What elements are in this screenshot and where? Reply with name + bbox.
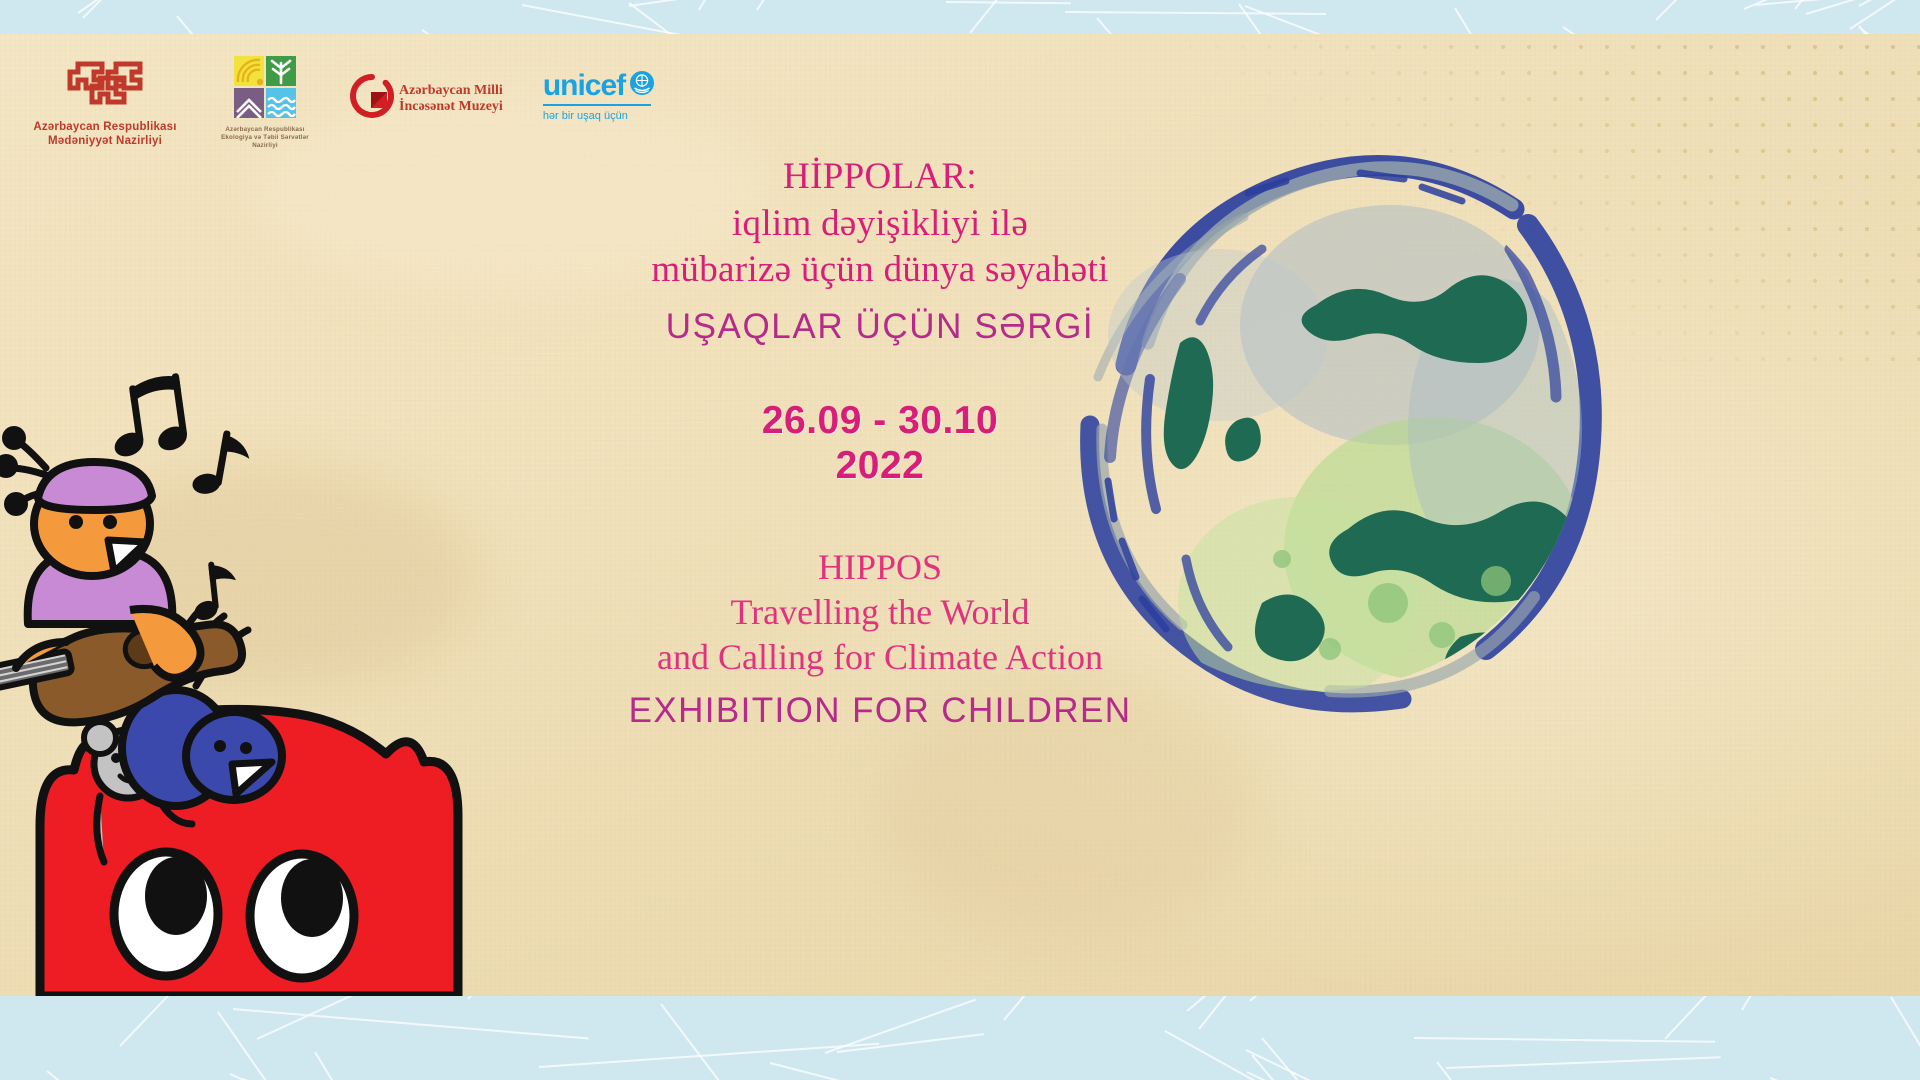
- band-line: [970, 0, 1232, 34]
- band-line: [82, 0, 239, 18]
- band-line: [1187, 996, 1455, 1012]
- band-line: [468, 996, 737, 1000]
- band-line: [314, 1052, 474, 1080]
- unicef-tagline: hər bir uşaq üçün: [543, 110, 628, 122]
- unicef-globe-icon: [629, 70, 655, 101]
- band-line: [77, 0, 386, 14]
- band-line: [628, 2, 851, 34]
- logo-national-art-museum: Azərbaycan Milli İncəsənət Muzeyi: [350, 74, 503, 123]
- band-line: [1454, 8, 1603, 34]
- logo-culture-line1: Azərbaycan Respublikası: [30, 120, 180, 134]
- logo-museum-line2: İncəsənət Muzeyi: [399, 99, 503, 115]
- band-line: [1238, 3, 1427, 34]
- unicef-wordmark: unicef: [543, 71, 625, 101]
- band-line: [1446, 1057, 1721, 1070]
- four-square-nature-icon: [234, 56, 296, 123]
- character-artwork: [0, 356, 660, 996]
- logo-bar: Azərbaycan Respublikası Mədəniyyət Nazir…: [30, 56, 655, 149]
- band-line: [1198, 996, 1428, 1030]
- poster-canvas: Azərbaycan Respublikası Mədəniyyət Nazir…: [0, 0, 1920, 1080]
- band-line: [756, 0, 953, 11]
- band-line: [1741, 996, 1895, 1010]
- logo-museum-line1: Azərbaycan Milli: [399, 83, 503, 99]
- band-line: [217, 1011, 328, 1080]
- band-line: [1004, 996, 1216, 1020]
- band-line: [176, 15, 287, 34]
- band-line: [538, 1042, 878, 1067]
- band-line: [1414, 1037, 1715, 1043]
- band-line: [1794, 0, 1920, 10]
- band-line: [1563, 26, 1812, 34]
- band-line: [946, 1, 1071, 4]
- unicef-rule: [543, 104, 651, 106]
- band-line: [1245, 1049, 1657, 1080]
- logo-unicef: unicef hər bir uşaq üçün: [543, 70, 655, 122]
- logo-ecology-line3: Nazirliyi: [220, 142, 310, 150]
- band-line: [1096, 18, 1393, 34]
- poster-body: Azərbaycan Respublikası Mədəniyyət Nazir…: [0, 34, 1920, 996]
- logo-ecology-line1: Azərbaycan Respublikası: [220, 126, 310, 134]
- band-line: [1065, 11, 1326, 15]
- band-line: [120, 996, 306, 1047]
- top-decorative-band: [0, 0, 1920, 34]
- painted-earth-globe: [1030, 129, 1610, 729]
- band-line: [698, 0, 844, 11]
- band-line: [770, 1062, 1076, 1080]
- band-line: [46, 1070, 147, 1080]
- band-line: [230, 1073, 494, 1080]
- circle-monogram-icon: [350, 74, 394, 123]
- band-line: [1859, 27, 1920, 34]
- band-line: [1665, 996, 1811, 1040]
- logo-ecology-line2: Ekologiya və Təbii Sərvətlər: [220, 134, 310, 142]
- logo-ministry-of-culture: Azərbaycan Respublikası Mədəniyyət Nazir…: [30, 56, 180, 149]
- band-line: [660, 1003, 776, 1080]
- azerbaijan-knot-ornament-icon: [62, 56, 148, 115]
- band-line: [1244, 5, 1489, 34]
- bottom-decorative-band: [0, 996, 1920, 1080]
- band-line: [521, 4, 932, 34]
- band-line: [1890, 996, 1920, 1080]
- band-line: [1249, 996, 1401, 1001]
- logo-ministry-of-ecology: Azərbaycan Respublikası Ekologiya və Təb…: [220, 56, 310, 149]
- band-line: [629, 0, 853, 7]
- logo-culture-line2: Mədəniyyət Nazirliyi: [30, 134, 180, 148]
